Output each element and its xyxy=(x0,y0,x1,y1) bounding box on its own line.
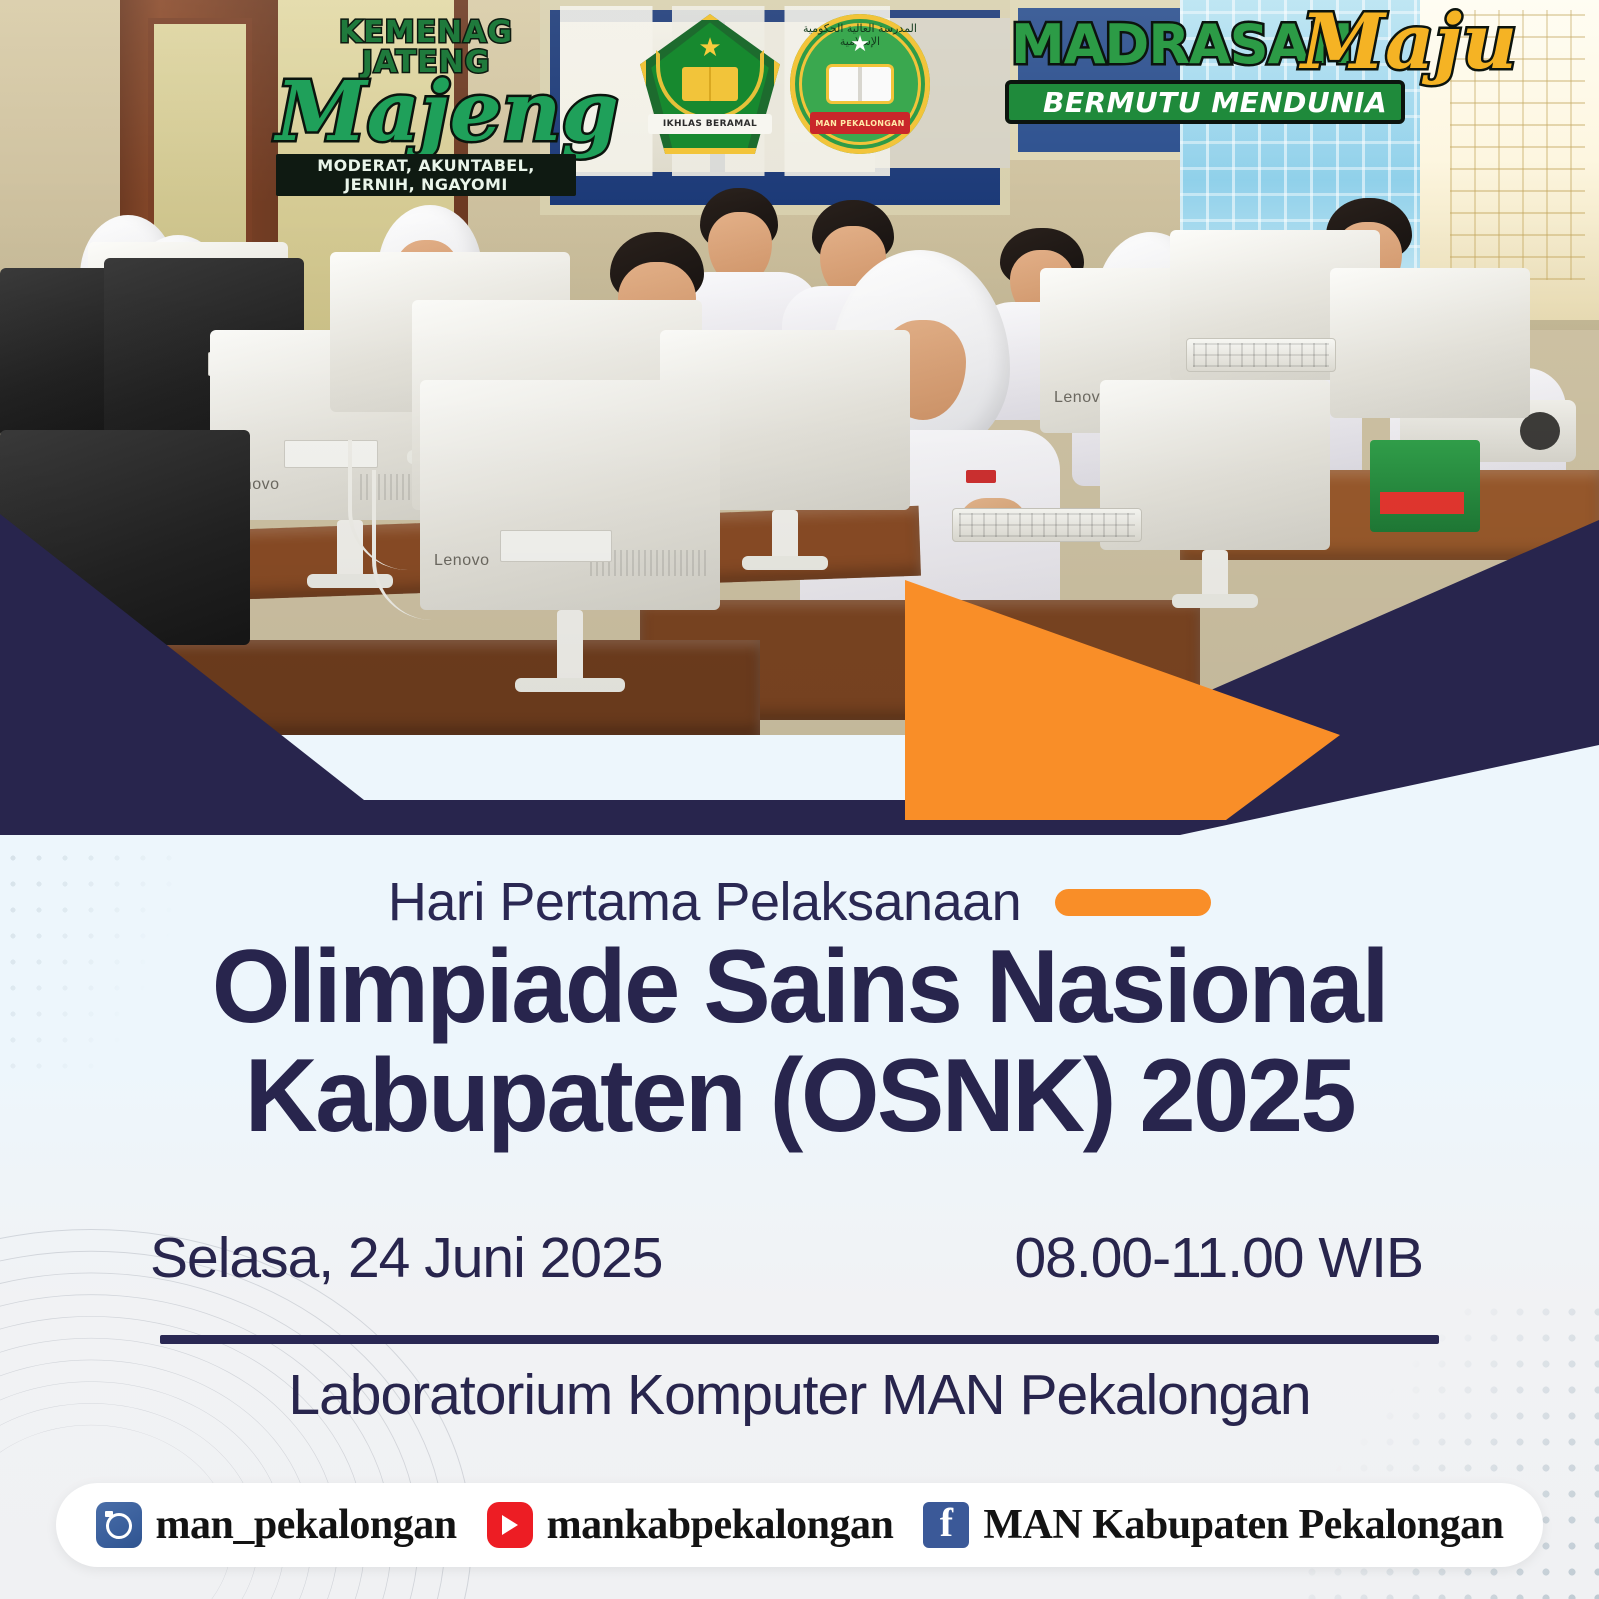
event-time: 08.00-11.00 WIB xyxy=(1014,1225,1423,1291)
social-item-youtube[interactable]: mankabpekalongan xyxy=(487,1501,894,1549)
event-venue: Laboratorium Komputer MAN Pekalongan xyxy=(0,1362,1599,1428)
kemenag-ribbon-text: IKHLAS BERAMAL xyxy=(648,114,771,134)
majeng-logo: KEMENAG JATENG Majeng MODERAT, AKUNTABEL… xyxy=(276,18,576,168)
star-icon: ★ xyxy=(698,34,721,60)
man-ribbon-text: MAN PEKALONGAN xyxy=(810,112,911,134)
divider xyxy=(160,1335,1439,1344)
social-bar: man_pekalongan mankabpekalongan MAN Kabu… xyxy=(56,1483,1543,1567)
page-title: Olimpiade Sains Nasional Kabupaten (OSNK… xyxy=(24,933,1575,1151)
facebook-handle: MAN Kabupaten Pekalongan xyxy=(983,1501,1503,1549)
majeng-wordmark: Majeng xyxy=(276,74,576,152)
madrasah-tagline: BERMUTU MENDUNIA xyxy=(1009,86,1387,119)
instagram-icon[interactable] xyxy=(96,1502,142,1548)
kicker-text: Hari Pertama Pelaksanaan xyxy=(388,871,1021,933)
social-item-instagram[interactable]: man_pekalongan xyxy=(96,1501,457,1549)
open-book-icon xyxy=(829,67,891,101)
logo-bar: KEMENAG JATENG Majeng MODERAT, AKUNTABEL… xyxy=(0,0,1599,175)
youtube-icon[interactable] xyxy=(487,1502,533,1548)
open-book-icon xyxy=(682,67,738,101)
kemenag-emblem: ★ IKHLAS BERAMAL xyxy=(640,14,780,154)
event-meta: Selasa, 24 Juni 2025 08.00-11.00 WIB xyxy=(150,1225,1449,1291)
youtube-handle: mankabpekalongan xyxy=(547,1501,894,1549)
event-date: Selasa, 24 Juni 2025 xyxy=(150,1225,662,1291)
orange-dash xyxy=(1055,889,1211,916)
instagram-handle: man_pekalongan xyxy=(156,1501,457,1549)
majeng-tagline: MODERAT, AKUNTABEL, JERNIH, NGAYOMI xyxy=(276,154,576,196)
madrasah-tagline-bar: BERMUTU MENDUNIA xyxy=(1005,80,1405,124)
maju-script: Maju xyxy=(1301,4,1517,80)
facebook-icon[interactable] xyxy=(923,1502,969,1548)
social-item-facebook[interactable]: MAN Kabupaten Pekalongan xyxy=(923,1501,1503,1549)
title-line-1: Olimpiade Sains Nasional xyxy=(212,929,1387,1045)
man-pekalongan-emblem: المدرسة العالية الحكومية الإسلامية ★ MAN… xyxy=(790,14,930,154)
poster: Lenovo Lenovo xyxy=(0,0,1599,1599)
title-line-2: Kabupaten (OSNK) 2025 xyxy=(24,1042,1575,1151)
content-panel: Hari Pertama Pelaksanaan Olimpiade Sains… xyxy=(0,835,1599,1599)
madrasah-maju-logo: MADRASAH Maju BERMUTU MENDUNIA xyxy=(1005,16,1435,146)
kicker-row: Hari Pertama Pelaksanaan xyxy=(0,871,1599,933)
star-icon: ★ xyxy=(850,31,870,57)
